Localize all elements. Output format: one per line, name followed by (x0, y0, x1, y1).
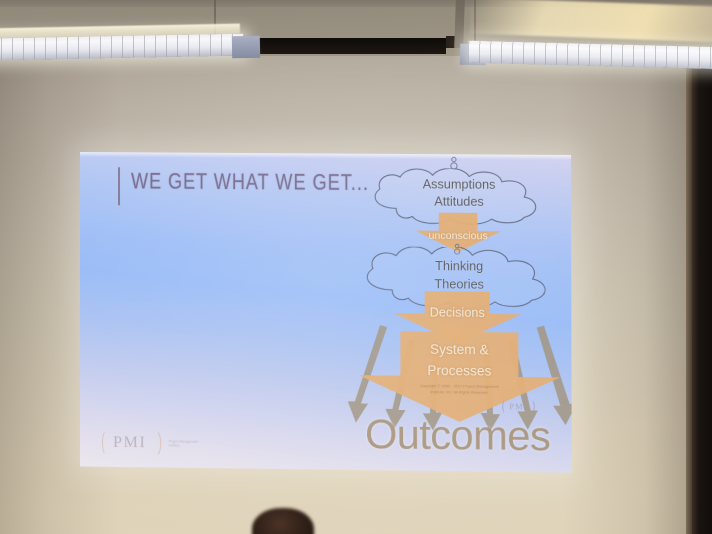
pmi-footer-text: PMI (113, 434, 146, 452)
cloud2-line1: Thinking (358, 258, 561, 275)
dark-wall-column (692, 50, 712, 534)
page-title: WE GET WHAT WE GET... (131, 166, 369, 198)
arrow2-label: Decisions (392, 305, 522, 321)
cloud1-line1: Assumptions (366, 177, 553, 193)
big-arrow-line1: System & (358, 341, 561, 358)
title-accent-bar (118, 167, 120, 205)
pmi-watermark-text: PMI (509, 402, 528, 411)
ceiling-beam (454, 0, 465, 48)
cascade-diagram: Assumptions Attitudes unconscious (343, 154, 571, 473)
photo-scene: WE GET WHAT WE GET... Assumptions Attitu… (0, 0, 712, 534)
projected-slide: WE GET WHAT WE GET... Assumptions Attitu… (80, 152, 572, 473)
arrow1-label: unconscious (414, 229, 501, 245)
big-arrow-line2: Processes (358, 362, 561, 379)
pmi-footer-subtext: Project Management Institute (169, 439, 199, 448)
ceiling-dark-slot (236, 38, 446, 54)
light-endcap-left (232, 36, 260, 59)
pmi-footer-subtext-line2: Institute (169, 443, 199, 448)
pmi-footer-swoosh-right-icon (148, 429, 161, 457)
pmi-footer-swoosh-left-icon (102, 430, 111, 456)
cloud1-line2: Attitudes (366, 194, 553, 210)
pmi-footer-logo: PMI Project Management Institute (102, 429, 198, 458)
outcomes-text: Outcomes (344, 411, 572, 458)
